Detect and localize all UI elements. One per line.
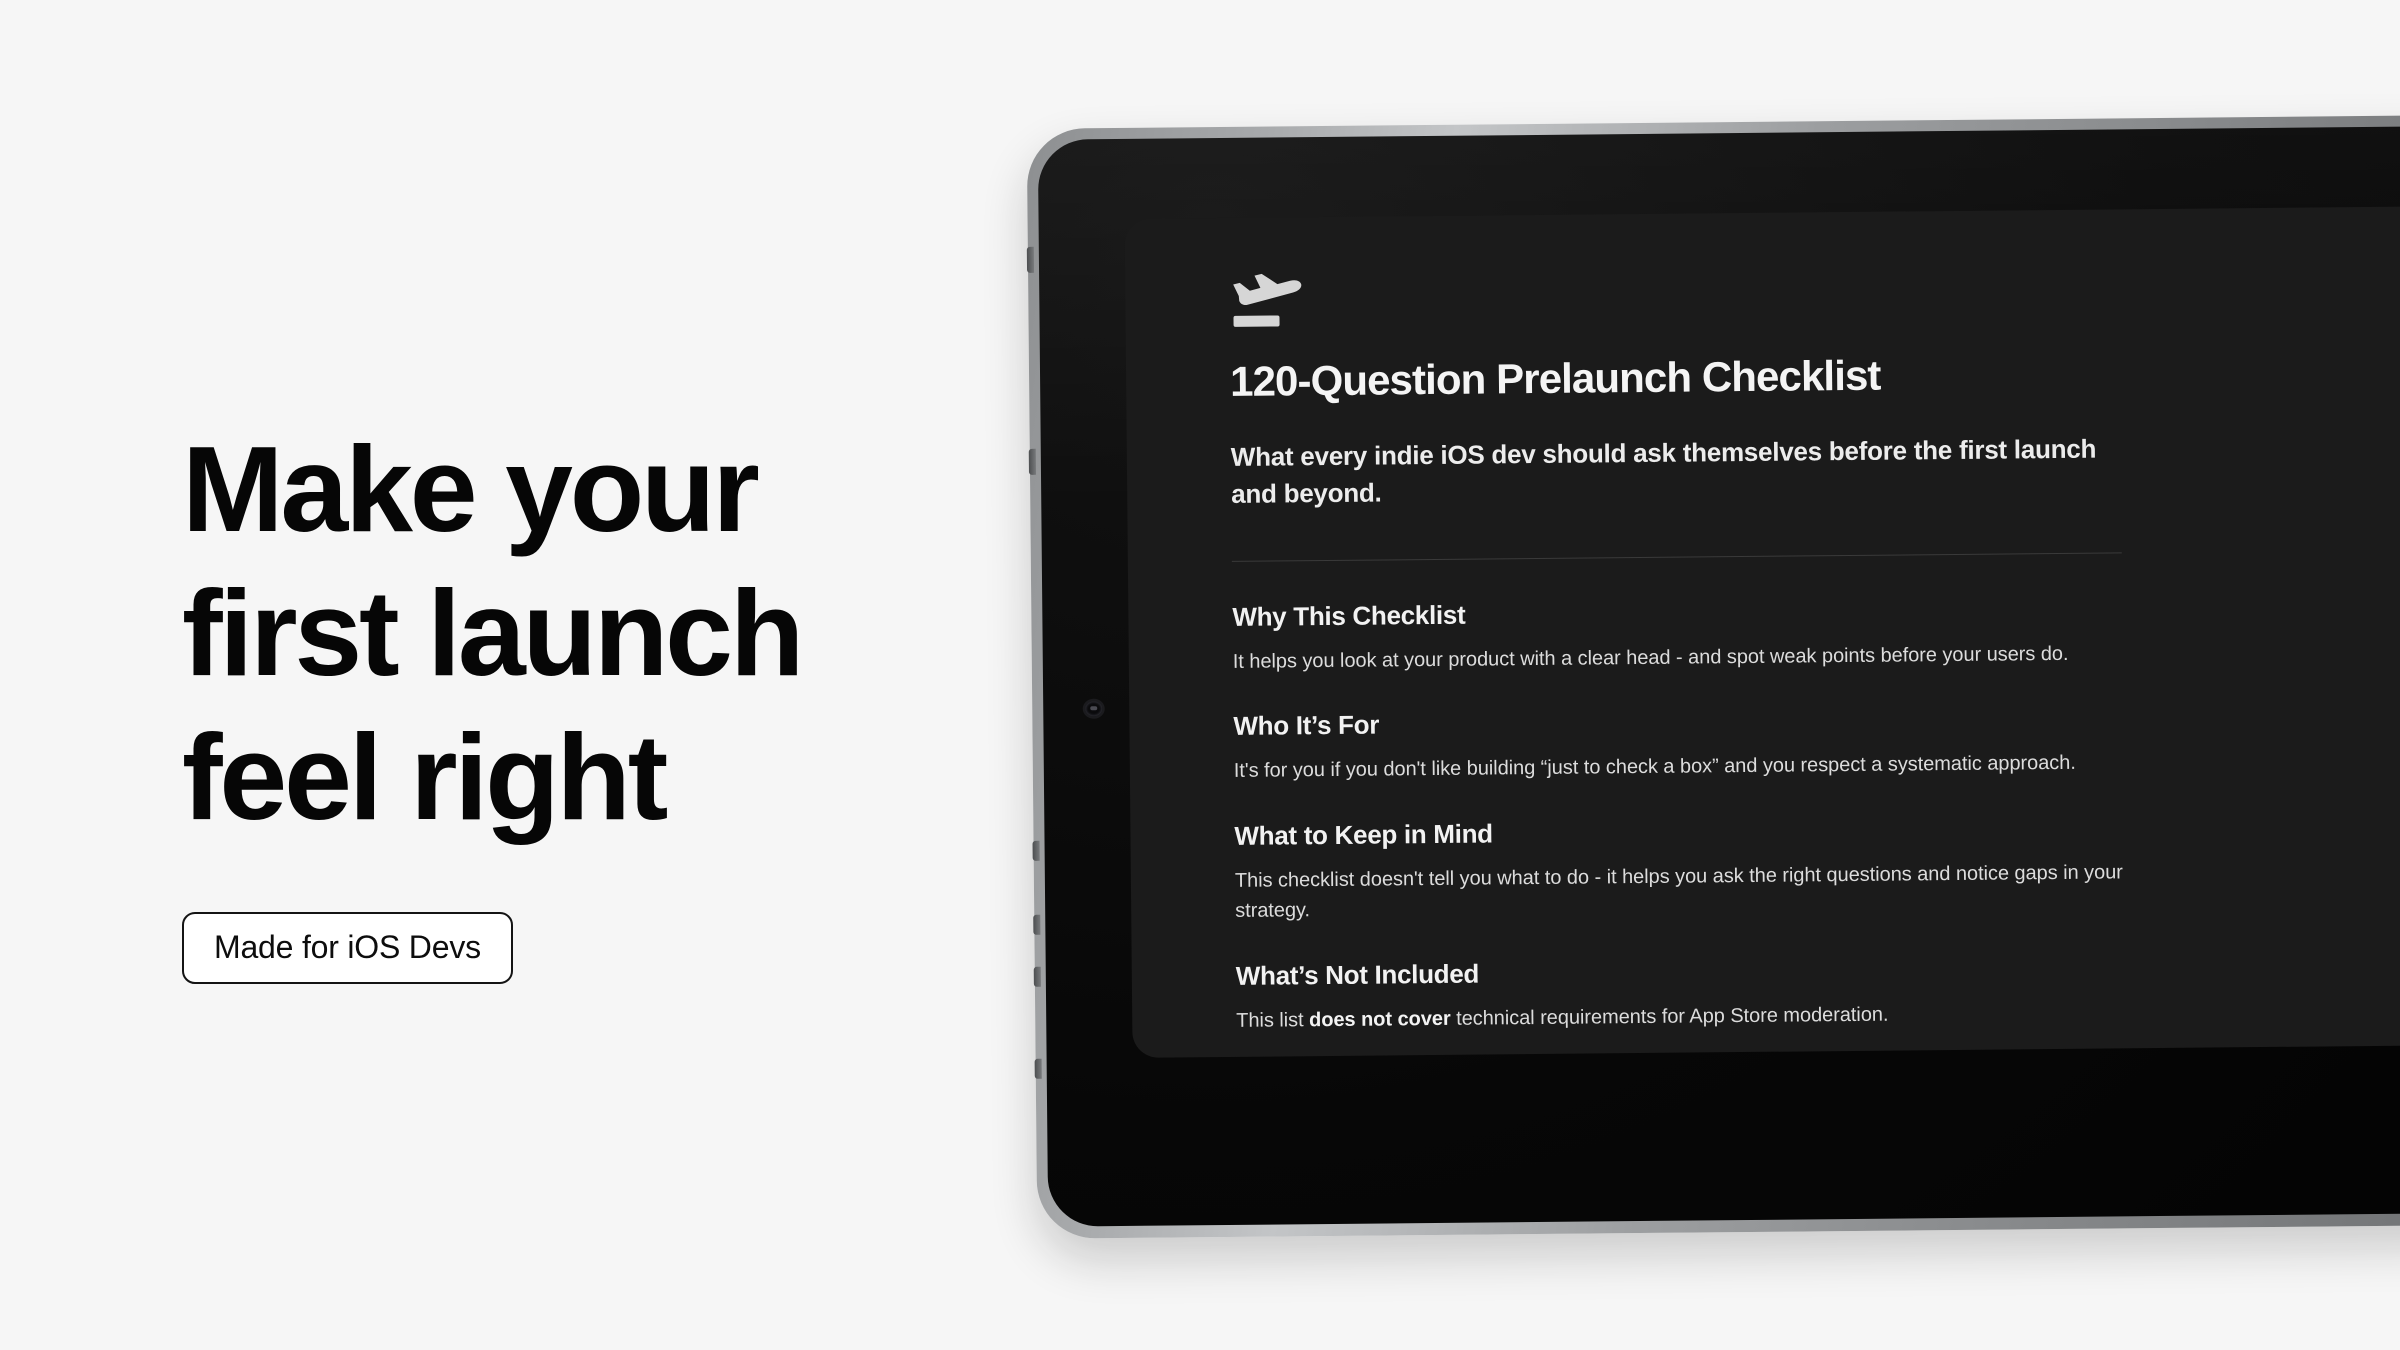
device-side-button[interactable]: [1027, 247, 1034, 273]
made-for-ios-devs-badge[interactable]: Made for iOS Devs: [182, 912, 513, 984]
section-who-its-for: Who It’s For It's for you if you don't l…: [1233, 699, 2400, 787]
front-camera-icon: [1085, 701, 1102, 716]
document-subtitle: What every indie iOS dev should ask them…: [1231, 430, 2112, 512]
section-paragraph: This list does not cover technical requi…: [1236, 997, 2131, 1036]
device-volume-button[interactable]: [1034, 967, 1041, 987]
airplane-takeoff-icon: [1229, 271, 1304, 334]
document-card: 120-Question Prelaunch Checklist What ev…: [1125, 205, 2400, 1058]
section-divider: [1232, 552, 2122, 562]
device-volume-button[interactable]: [1033, 841, 1040, 861]
section-paragraph: If you want to fully prepare for review,…: [1237, 1044, 2132, 1058]
section-what-to-keep-in-mind: What to Keep in Mind This checklist does…: [1234, 809, 2400, 927]
section-paragraph: It's for you if you don't like building …: [1234, 748, 2129, 787]
section-why-this-checklist: Why This Checklist It helps you look at …: [1232, 589, 2400, 677]
section-paragraph: This checklist doesn't tell you what to …: [1235, 857, 2131, 926]
section-whats-not-included: What’s Not Included This list does not c…: [1236, 948, 2400, 1057]
hero-section: Make your first launch feel right Made f…: [182, 418, 942, 984]
device-volume-button[interactable]: [1035, 1059, 1042, 1079]
section-heading: Who It’s For: [1233, 699, 2400, 742]
tablet-device: 120-Question Prelaunch Checklist What ev…: [1027, 115, 2400, 1239]
device-screen-bezel: 120-Question Prelaunch Checklist What ev…: [1038, 126, 2400, 1227]
section-heading: Why This Checklist: [1232, 589, 2400, 632]
section-paragraph: It helps you look at your product with a…: [1233, 638, 2128, 677]
page-title: Make your first launch feel right: [182, 418, 942, 850]
document-title: 120-Question Prelaunch Checklist: [1230, 346, 2400, 407]
section-heading: What to Keep in Mind: [1234, 809, 2400, 852]
device-side-button[interactable]: [1029, 449, 1036, 475]
section-heading: What’s Not Included: [1236, 948, 2400, 991]
device-volume-button[interactable]: [1033, 915, 1040, 935]
